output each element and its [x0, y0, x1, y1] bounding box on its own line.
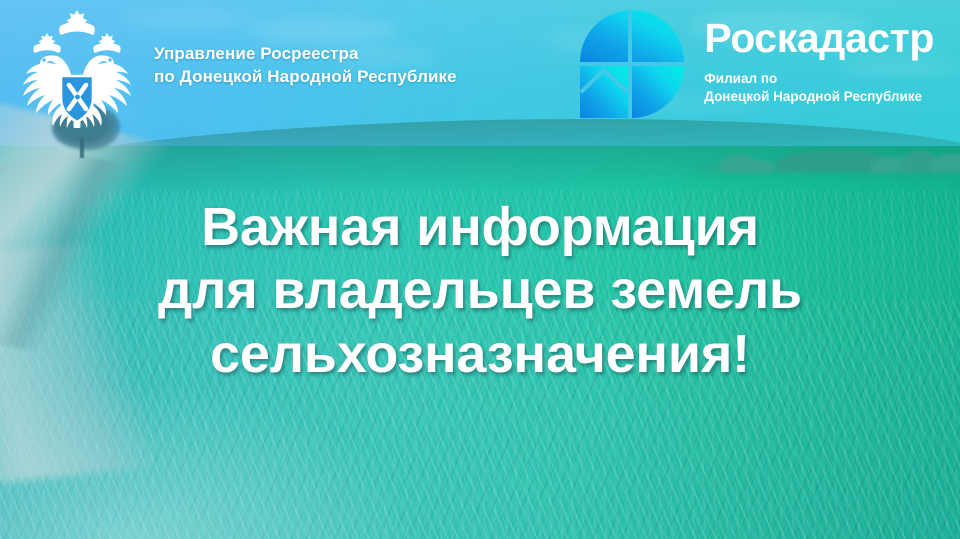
roskadastr-text-block: Роскадастр Филиал по Донецкой Народной Р…	[704, 6, 934, 106]
roskadastr-subtitle: Филиал по Донецкой Народной Республике	[704, 70, 934, 106]
banner: Управление Росреестра по Донецкой Народн…	[0, 0, 960, 539]
rosreestr-brand: Управление Росреестра по Донецкой Народн…	[14, 6, 457, 128]
header: Управление Росреестра по Донецкой Народн…	[0, 0, 960, 128]
roskadastr-sub-line-1: Филиал по	[704, 70, 934, 88]
roskadastr-sub-line-2: Донецкой Народной Республике	[704, 88, 934, 106]
tree-cluster	[748, 160, 774, 172]
rosreestr-brand-text: Управление Росреестра по Донецкой Народн…	[154, 42, 457, 93]
roskadastr-title: Роскадастр	[704, 18, 934, 59]
headline-line-1: Важная информация	[0, 196, 960, 259]
roskadastr-brand: Роскадастр Филиал по Донецкой Народной Р…	[576, 6, 934, 120]
rosreestr-line-1: Управление Росреестра	[154, 42, 457, 65]
headline: Важная информация для владельцев земель …	[0, 196, 960, 386]
headline-line-3: сельхозназначения!	[0, 323, 960, 386]
roskadastr-logo-icon	[576, 8, 688, 120]
headline-line-2: для владельцев земель	[0, 259, 960, 322]
rosreestr-line-2: по Донецкой Народной Республике	[154, 65, 457, 88]
rosreestr-double-headed-eagle-icon	[14, 6, 140, 128]
